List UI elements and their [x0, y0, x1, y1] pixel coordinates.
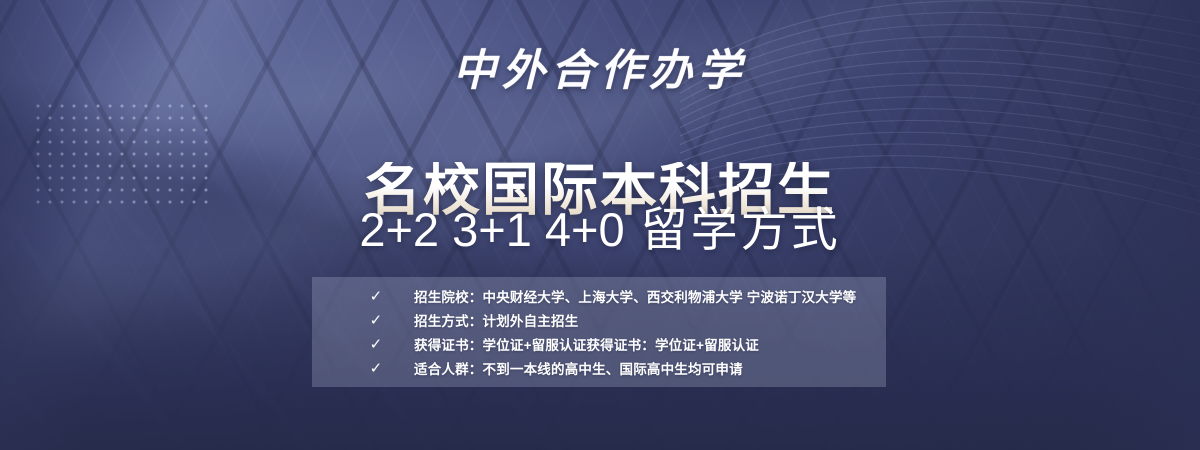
check-icon: ✓ — [368, 313, 384, 328]
banner-content: 中外合作办学 名校国际本科招生 2+2 3+1 4+0留学方式 ✓ 招生院校：中… — [0, 0, 1200, 450]
promo-banner: 中外合作办学 名校国际本科招生 2+2 3+1 4+0留学方式 ✓ 招生院校：中… — [0, 0, 1200, 450]
check-icon: ✓ — [368, 337, 384, 352]
feature-item: ✓ 适合人群：不到一本线的高中生、国际高中生均可申请 — [368, 356, 886, 380]
feature-item: ✓ 招生方式：计划外自主招生 — [368, 308, 886, 332]
study-mode-list: 2+2 3+1 4+0 — [359, 203, 624, 256]
check-icon: ✓ — [368, 361, 384, 376]
banner-eyebrow: 中外合作办学 — [0, 50, 1200, 93]
study-mode-suffix: 留学方式 — [641, 203, 841, 256]
feature-label: 招生院校：中央财经大学、上海大学、西交利物浦大学 宁波诺丁汉大学等 — [414, 286, 856, 306]
banner-subheadline: 2+2 3+1 4+0留学方式 — [0, 204, 1200, 256]
feature-label: 适合人群：不到一本线的高中生、国际高中生均可申请 — [414, 358, 743, 378]
check-icon: ✓ — [368, 289, 384, 304]
feature-label: 获得证书：学位证+留服认证获得证书：学位证+留服认证 — [414, 334, 759, 354]
feature-item: ✓ 招生院校：中央财经大学、上海大学、西交利物浦大学 宁波诺丁汉大学等 — [368, 284, 886, 308]
feature-label: 招生方式：计划外自主招生 — [414, 310, 578, 330]
feature-panel: ✓ 招生院校：中央财经大学、上海大学、西交利物浦大学 宁波诺丁汉大学等 ✓ 招生… — [312, 277, 886, 387]
feature-item: ✓ 获得证书：学位证+留服认证获得证书：学位证+留服认证 — [368, 332, 886, 356]
